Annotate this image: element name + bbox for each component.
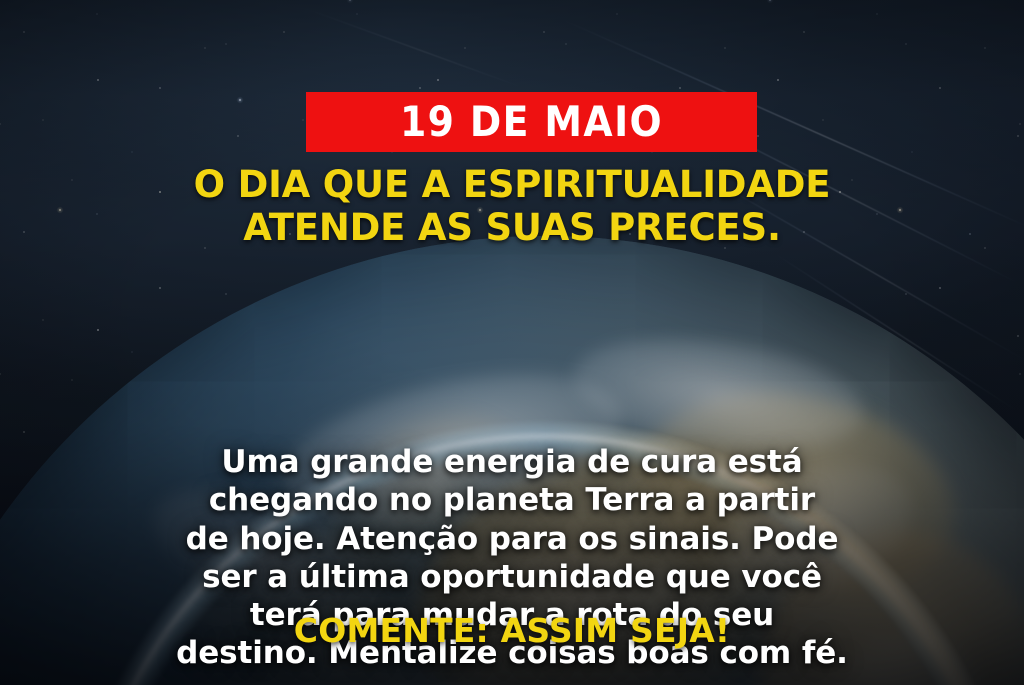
headline-line-2: ATENDE AS SUAS PRECES. (28, 207, 996, 250)
date-banner: 19 DE MAIO (306, 92, 757, 152)
poster-content: 19 DE MAIO O DIA QUE A ESPIRITUALIDADE A… (0, 0, 1024, 685)
body-line-3: de hoje. Atenção para os sinais. Pode (46, 520, 978, 558)
headline-line-1: O DIA QUE A ESPIRITUALIDADE (28, 164, 996, 207)
body-line-4: ser a última oportunidade que você (46, 558, 978, 596)
date-banner-label: 19 DE MAIO (400, 101, 663, 143)
call-to-action: COMENTE: ASSIM SEJA! (0, 613, 1024, 649)
body-line-1: Uma grande energia de cura está (46, 443, 978, 481)
body-line-2: chegando no planeta Terra a partir (46, 481, 978, 519)
social-media-poster: 19 DE MAIO O DIA QUE A ESPIRITUALIDADE A… (0, 0, 1024, 685)
headline: O DIA QUE A ESPIRITUALIDADE ATENDE AS SU… (0, 164, 1024, 250)
